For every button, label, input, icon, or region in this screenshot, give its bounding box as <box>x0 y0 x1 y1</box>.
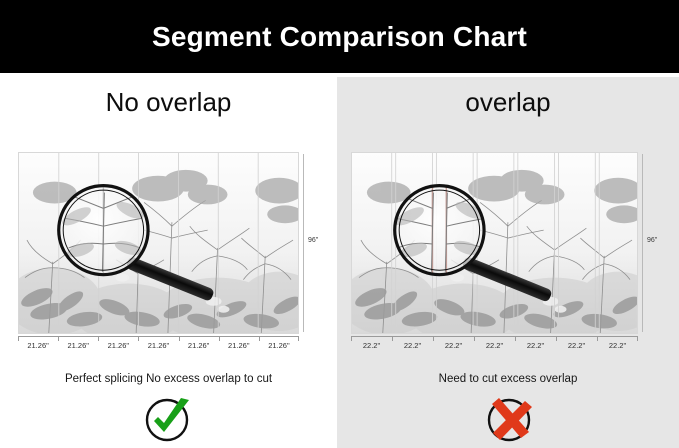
segment-label: 22.2" <box>515 341 556 350</box>
segment-label: 22.2" <box>351 341 392 350</box>
segment-label: 21.26" <box>18 341 58 350</box>
segment-label: 22.2" <box>392 341 433 350</box>
segment-labels-overlap: 22.2" 22.2" 22.2" 22.2" 22.2" 22.2" 22.2… <box>351 341 638 350</box>
caption-overlap: Need to cut excess overlap <box>337 373 679 385</box>
magnifier-lens <box>393 186 485 275</box>
magnifier-lens <box>59 186 148 275</box>
segment-label: 22.2" <box>474 341 515 350</box>
segment-comparison-chart-page: Segment Comparison Chart No overlap <box>0 0 679 448</box>
panel-heading-overlap: overlap <box>337 87 679 118</box>
panel-no-overlap: No overlap <box>0 73 337 448</box>
segment-labels-no-overlap: 21.26" 21.26" 21.26" 21.26" 21.26" 21.26… <box>18 341 299 350</box>
segment-label: 21.26" <box>259 341 299 350</box>
segment-label: 22.2" <box>556 341 597 350</box>
caption-no-overlap: Perfect splicing No excess overlap to cu… <box>0 373 337 385</box>
segment-label: 21.26" <box>179 341 219 350</box>
cross-mark-icon <box>480 395 536 445</box>
comparison-panels: No overlap <box>0 73 679 448</box>
verdict-overlap <box>337 395 679 445</box>
verdict-no-overlap <box>0 395 337 445</box>
panel-overlap: overlap <box>337 73 679 448</box>
segment-ruler-overlap: 22.2" 22.2" 22.2" 22.2" 22.2" 22.2" 22.2… <box>351 336 638 358</box>
mural-image-overlap <box>351 152 638 334</box>
segment-label: 21.26" <box>138 341 178 350</box>
height-dimension-tick-no-overlap <box>303 154 304 332</box>
segment-label: 21.26" <box>219 341 259 350</box>
mural-image-no-overlap <box>18 152 299 334</box>
check-mark-icon <box>141 395 197 445</box>
mural-figure-overlap: 96" <box>351 152 638 334</box>
panel-heading-no-overlap: No overlap <box>0 87 337 118</box>
segment-label: 21.26" <box>98 341 138 350</box>
segment-ruler-no-overlap: 21.26" 21.26" 21.26" 21.26" 21.26" 21.26… <box>18 336 299 358</box>
page-title: Segment Comparison Chart <box>152 21 527 53</box>
height-label-overlap: 96" <box>647 237 657 244</box>
page-header: Segment Comparison Chart <box>0 0 679 73</box>
mural-figure-no-overlap: 96" <box>18 152 299 334</box>
segment-label: 22.2" <box>597 341 638 350</box>
height-dimension-tick-overlap <box>642 154 643 332</box>
height-label-no-overlap: 96" <box>308 237 318 244</box>
segment-label: 21.26" <box>58 341 98 350</box>
segment-label: 22.2" <box>433 341 474 350</box>
